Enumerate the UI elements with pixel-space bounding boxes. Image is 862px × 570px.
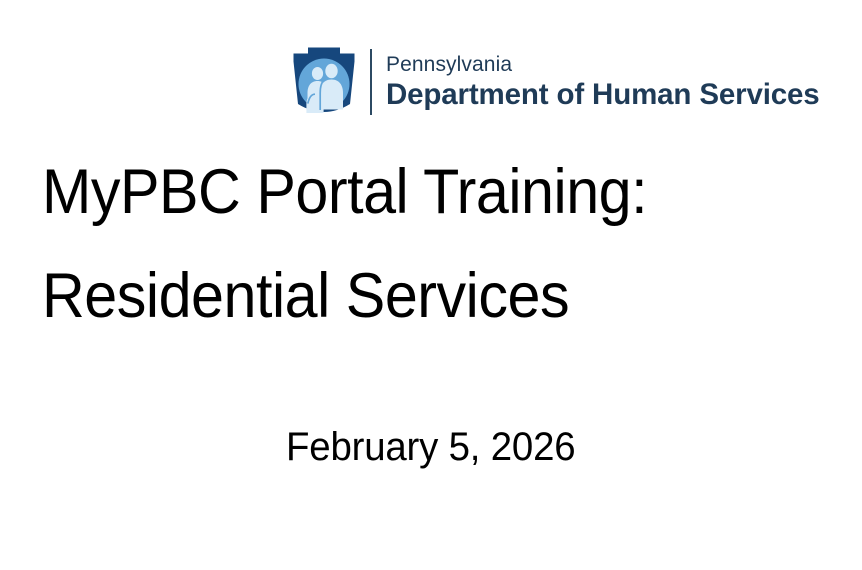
slide-title: MyPBC Portal Training: Residential Servi… [42,140,832,348]
slide-title-line-1: MyPBC Portal Training: [42,140,785,244]
slide-title-line-2: Residential Services [42,244,785,348]
slide-date-container: February 5, 2026 [0,418,862,476]
dhs-logo-lockup: Pennsylvania Department of Human Service… [286,44,820,120]
slide-date: February 5, 2026 [286,418,575,476]
logo-divider [370,49,372,115]
logo-wordmark: Pennsylvania Department of Human Service… [386,54,820,110]
logo-agency-department: Department of Human Services [386,80,820,110]
logo-agency-state: Pennsylvania [386,54,820,75]
presentation-slide: Pennsylvania Department of Human Service… [0,0,862,570]
pennsylvania-keystone-family-logo-icon [286,44,362,120]
